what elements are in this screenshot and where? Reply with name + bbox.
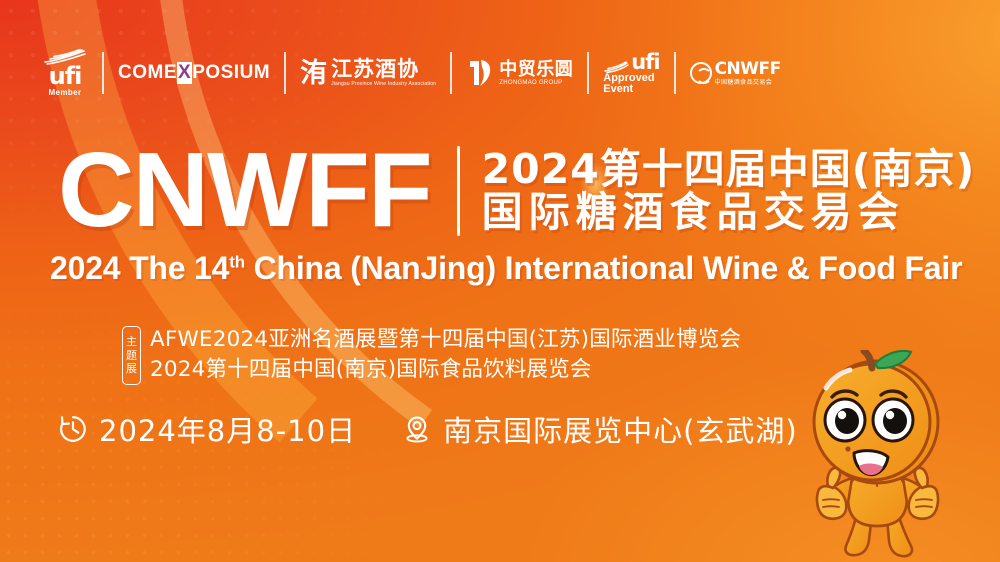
cnwff-logo-en: CNWFF — [715, 61, 781, 78]
globe-icon — [690, 62, 712, 84]
zhongmao-en-name: ZHONGMAO GROUP — [499, 80, 573, 86]
mascot-left-hand-thumbs-up — [817, 468, 846, 519]
chinese-title-line2: 国际糖酒食品交易会 — [482, 191, 976, 234]
mascot-left-eye — [825, 399, 865, 441]
cnwff-logo-cn: 中国糖酒食品交易会 — [715, 80, 781, 86]
ufi-approved-event-logo: ufi Approved Event — [603, 52, 659, 95]
english-subtitle-post: China (NanJing) International Wine & Foo… — [245, 250, 962, 286]
title-divider — [457, 146, 460, 236]
theme-line-1: AFWE2024亚洲名酒展暨第十四届中国(江苏)国际酒业博览会 — [150, 326, 741, 354]
mascot-right-eye — [873, 399, 913, 441]
jswa-en-name: Jiangsu Province Wine Industry Associati… — [331, 82, 436, 87]
english-subtitle-pre: 2024 The 14 — [50, 250, 229, 286]
ufi-wordmark: ufi — [49, 64, 82, 88]
mascot-cheek-dot — [845, 446, 850, 451]
theme-badge-char-2: 题 — [126, 349, 137, 362]
event-acronym: CNWFF — [58, 143, 431, 238]
sponsor-logo-bar: ufi Member COMEXPOSIUM 洧 江苏酒协 Jiangsu Pr… — [42, 48, 781, 98]
event-date-text: 2024年8月8-10日 — [99, 408, 356, 450]
zhongmao-cn-name: 中贸乐圆 — [499, 60, 573, 78]
cnwff-banner: ufi Member COMEXPOSIUM 洧 江苏酒协 Jiangsu Pr… — [0, 0, 1000, 562]
ufi-approved-wordmark: ufi — [631, 52, 659, 73]
jiangsu-wine-association-logo: 洧 江苏酒协 Jiangsu Province Wine Industry As… — [300, 59, 436, 87]
logo-divider-5 — [674, 52, 676, 94]
location-pin-icon — [402, 414, 432, 444]
orange-mascot — [776, 350, 988, 562]
ufi-member-label: Member — [48, 89, 81, 97]
clock-icon — [58, 414, 88, 444]
theme-badge-char-3: 展 — [126, 362, 137, 375]
theme-exhibitions: 主 题 展 AFWE2024亚洲名酒展暨第十四届中国(江苏)国际酒业博览会 20… — [122, 326, 741, 385]
event-venue: 南京国际展览中心(玄武湖) — [402, 408, 798, 450]
comexposium-pre: COME — [118, 62, 177, 84]
jswa-cn-name: 江苏酒协 — [331, 59, 436, 80]
logo-divider-3 — [450, 52, 452, 94]
comexposium-logo: COMEXPOSIUM — [118, 62, 270, 84]
event-info-row: 2024年8月8-10日 南京国际展览中心(玄武湖) — [58, 408, 798, 450]
cnwff-brand-logo: CNWFF 中国糖酒食品交易会 — [690, 61, 781, 86]
logo-divider-1 — [102, 52, 104, 94]
chinese-title-line1: 2024第十四届中国(南京) — [482, 148, 976, 191]
main-title-row: CNWFF 2024第十四届中国(南京) 国际糖酒食品交易会 — [58, 143, 975, 238]
ufi-approved-line2: Event — [603, 84, 633, 95]
zhongmao-group-logo: 中贸乐圆 ZHONGMAO GROUP — [466, 58, 573, 88]
ufi-approved-wing-icon — [603, 61, 629, 73]
theme-badge-char-1: 主 — [126, 335, 137, 348]
logo-divider-2 — [284, 52, 286, 94]
theme-line-2: 2024第十四届中国(南京)国际食品饮料展览会 — [150, 356, 741, 384]
zhongmao-mark-icon — [466, 58, 494, 88]
chinese-title: 2024第十四届中国(南京) 国际糖酒食品交易会 — [482, 148, 976, 233]
logo-divider-4 — [587, 52, 589, 94]
mascot-leaf — [875, 351, 911, 368]
mascot-right-hand-thumbs-up — [909, 468, 938, 519]
english-subtitle: 2024 The 14th China (NanJing) Internatio… — [50, 250, 962, 287]
event-venue-text: 南京国际展览中心(玄武湖) — [443, 408, 798, 450]
comexposium-x: X — [177, 62, 192, 84]
ufi-member-logo: ufi Member — [42, 49, 88, 97]
english-subtitle-ordinal: th — [229, 252, 245, 271]
jswa-brush-mark: 洧 — [300, 60, 327, 87]
event-date: 2024年8月8-10日 — [58, 408, 356, 450]
theme-badge: 主 题 展 — [122, 326, 141, 385]
comexposium-post: POSIUM — [192, 62, 270, 84]
ufi-approved-line1: Approved — [603, 73, 654, 84]
